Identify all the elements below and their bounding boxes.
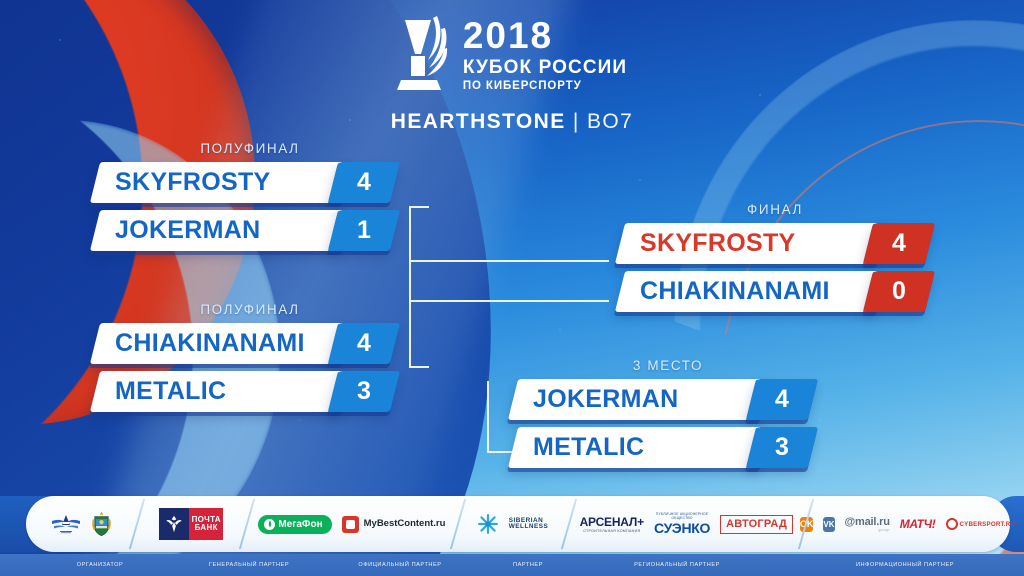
connector-third-vertical xyxy=(487,381,489,453)
header: 2018 КУБОК РОССИИ ПО КИБЕРСПОРТУ HEARTHS… xyxy=(0,14,1024,134)
team-plate[interactable]: CHIAKINANAMI xyxy=(90,323,352,364)
match-semifinal-2: ПОЛУФИНАЛ CHIAKINANAMI 4 METALIC 3 xyxy=(95,302,405,419)
sponsor-group-general-partner: ПОЧТАБАНК xyxy=(136,496,246,552)
score-value: 4 xyxy=(775,385,789,414)
match-semifinal-1: ПОЛУФИНАЛ SKYFROSTY 4 JOKERMAN 1 xyxy=(95,141,405,258)
score-value: 0 xyxy=(892,277,906,306)
mybestcontent-logo: MyBestContent.ru xyxy=(342,516,446,533)
discipline-name: HEARTHSTONE xyxy=(391,110,566,133)
team-name: CHIAKINANAMI xyxy=(95,329,305,358)
connector-to-final-top xyxy=(409,260,609,262)
trophy-cup-icon xyxy=(397,14,449,98)
score-block: 4 xyxy=(328,323,400,364)
score-value: 4 xyxy=(892,229,906,258)
score-block: 1 xyxy=(328,210,400,251)
cybersport-ring-icon xyxy=(946,518,958,530)
discipline-line: HEARTHSTONE | BO7 xyxy=(0,110,1024,134)
sponsor-category-official-partner: ОФИЦИАЛЬНЫЙ ПАРТНЕР xyxy=(358,562,441,568)
bracket-row: SKYFROSTY 4 xyxy=(95,162,405,203)
team-plate[interactable]: METALIC xyxy=(508,427,770,468)
connector-sf1-vertical xyxy=(409,206,411,302)
arsenal-tagline: СТРОИТЕЛЬНАЯ КОМПАНИЯ xyxy=(580,529,644,533)
bracket-row: JOKERMAN 4 xyxy=(513,379,823,420)
sponsor-logo-strip: ПОЧТАБАНК МегаФон MyBestContent.ru xyxy=(26,496,1010,552)
connector-sf2-stub xyxy=(409,366,429,368)
sponsor-category-general-partner: ГЕНЕРАЛЬНЫЙ ПАРТНЕР xyxy=(209,562,289,568)
team-name: METALIC xyxy=(95,377,226,406)
score-value: 4 xyxy=(357,168,371,197)
pochta-bank-eagle-icon xyxy=(159,508,189,540)
mailru-group-label: group xyxy=(845,528,890,532)
mybestcontent-wordmark: MyBestContent.ru xyxy=(364,519,446,529)
sponsor-group-organizer xyxy=(26,496,136,552)
bracket-row: CHIAKINANAMI 4 xyxy=(95,323,405,364)
score-block: 0 xyxy=(863,271,935,312)
mailru-wordmark: @mail.ru xyxy=(845,516,890,528)
score-block: 3 xyxy=(328,371,400,412)
team-name: SKYFROSTY xyxy=(620,229,796,258)
team-name: SKYFROSTY xyxy=(95,168,271,197)
connector-sf1-stub xyxy=(409,206,429,208)
avtograd-logo: АВТОГРАД xyxy=(720,515,793,534)
cybersport-wordmark: CYBERSPORT.RU xyxy=(960,521,1016,528)
siberian-wellness-snowflake-icon xyxy=(477,513,499,535)
stage-label-final: ФИНАЛ xyxy=(620,202,930,217)
score-value: 1 xyxy=(357,216,371,245)
bracket-row: CHIAKINANAMI 0 xyxy=(620,271,930,312)
tournament-bracket-graphic: 2018 КУБОК РОССИИ ПО КИБЕРСПОРТУ HEARTHS… xyxy=(0,0,1024,576)
megafon-logo: МегаФон xyxy=(258,515,331,534)
bracket-row: METALIC 3 xyxy=(513,427,823,468)
sponsor-group-partner: SIBERIAN WELLNESS xyxy=(457,496,567,552)
pochta-bank-wordmark: ПОЧТАБАНК xyxy=(189,508,223,540)
stage-label-semifinal-1: ПОЛУФИНАЛ xyxy=(95,141,405,156)
arsenal-logo: АРСЕНАЛ+ СТРОИТЕЛЬНАЯ КОМПАНИЯ xyxy=(580,515,644,533)
sponsor-group-official-partner: МегаФон MyBestContent.ru xyxy=(246,496,457,552)
score-block: 4 xyxy=(328,162,400,203)
match-tv-logo: МАТЧ! xyxy=(900,517,936,531)
megafon-mark-icon xyxy=(264,519,275,530)
connector-sf2-vertical xyxy=(409,300,411,368)
sponsor-category-strip: ОРГАНИЗАТОР ГЕНЕРАЛЬНЫЙ ПАРТНЕР ОФИЦИАЛЬ… xyxy=(0,554,1024,576)
team-name: JOKERMAN xyxy=(513,385,678,414)
match-final: ФИНАЛ SKYFROSTY 4 CHIAKINANAMI 0 xyxy=(620,202,930,319)
sponsor-group-regional-partner: АРСЕНАЛ+ СТРОИТЕЛЬНАЯ КОМПАНИЯ ПУБЛИЧНОЕ… xyxy=(568,496,805,552)
bracket-row: SKYFROSTY 4 xyxy=(620,223,930,264)
cybersport-logo: CYBERSPORT.RU xyxy=(946,518,1016,530)
sponsor-bar: ПОЧТАБАНК МегаФон MyBestContent.ru xyxy=(0,488,1024,576)
bracket-row: METALIC 3 xyxy=(95,371,405,412)
team-plate[interactable]: CHIAKINANAMI xyxy=(615,271,887,312)
score-value: 3 xyxy=(357,377,371,406)
team-plate[interactable]: JOKERMAN xyxy=(90,210,352,251)
team-plate[interactable]: METALIC xyxy=(90,371,352,412)
suenko-wordmark: СУЭНКО xyxy=(654,520,710,536)
suenko-tagline: ПУБЛИЧНОЕ АКЦИОНЕРНОЕ ОБЩЕСТВО xyxy=(654,512,710,520)
score-value: 3 xyxy=(775,433,789,462)
bracket-row: JOKERMAN 1 xyxy=(95,210,405,251)
year-title: 2018 xyxy=(463,18,627,54)
team-name: METALIC xyxy=(513,433,644,462)
format-separator: | xyxy=(573,110,580,133)
federation-logo-icon xyxy=(51,511,81,537)
vk-icon: VK xyxy=(823,517,834,532)
odnoklassniki-icon: OK xyxy=(800,517,814,532)
sponsor-category-regional-partner: РЕГИОНАЛЬНЫЙ ПАРТНЕР xyxy=(634,562,720,568)
team-name: CHIAKINANAMI xyxy=(620,277,830,306)
team-plate[interactable]: SKYFROSTY xyxy=(615,223,887,264)
team-name: JOKERMAN xyxy=(95,216,260,245)
sponsor-category-media-partner: ИНФОРМАЦИОННЫЙ ПАРТНЕР xyxy=(856,562,954,568)
cup-subtitle: ПО КИБЕРСПОРТУ xyxy=(463,80,627,94)
pochta-bank-line2: БАНК xyxy=(195,523,218,532)
siberian-wellness-line2: WELLNESS xyxy=(509,524,549,530)
mailru-logo: @mail.ru group xyxy=(845,516,890,532)
suenko-logo: ПУБЛИЧНОЕ АКЦИОНЕРНОЕ ОБЩЕСТВО СУЭНКО xyxy=(654,512,710,536)
pochta-bank-logo: ПОЧТАБАНК xyxy=(159,508,223,540)
match-format: BO7 xyxy=(587,110,633,133)
arsenal-wordmark: АРСЕНАЛ+ xyxy=(580,515,644,529)
cup-title: КУБОК РОССИИ xyxy=(463,56,627,80)
sponsor-category-organizer: ОРГАНИЗАТОР xyxy=(77,562,124,568)
score-block: 3 xyxy=(746,427,818,468)
sponsor-category-partner: ПАРТНЕР xyxy=(513,562,543,568)
team-plate[interactable]: SKYFROSTY xyxy=(90,162,352,203)
sponsor-group-media-partner: OK VK @mail.ru group МАТЧ! CYBERSPORT.RU xyxy=(805,496,1010,552)
megafon-wordmark: МегаФон xyxy=(278,519,322,530)
team-plate[interactable]: JOKERMAN xyxy=(508,379,770,420)
score-value: 4 xyxy=(357,329,371,358)
match-third-place: 3 МЕСТО JOKERMAN 4 METALIC 3 xyxy=(513,358,823,475)
stage-label-semifinal-2: ПОЛУФИНАЛ xyxy=(95,302,405,317)
mybestcontent-box-icon xyxy=(342,516,359,533)
region-coat-of-arms-icon xyxy=(91,510,112,538)
score-block: 4 xyxy=(863,223,935,264)
connector-to-final-bottom xyxy=(409,300,609,302)
stage-label-third-place: 3 МЕСТО xyxy=(513,358,823,373)
score-block: 4 xyxy=(746,379,818,420)
